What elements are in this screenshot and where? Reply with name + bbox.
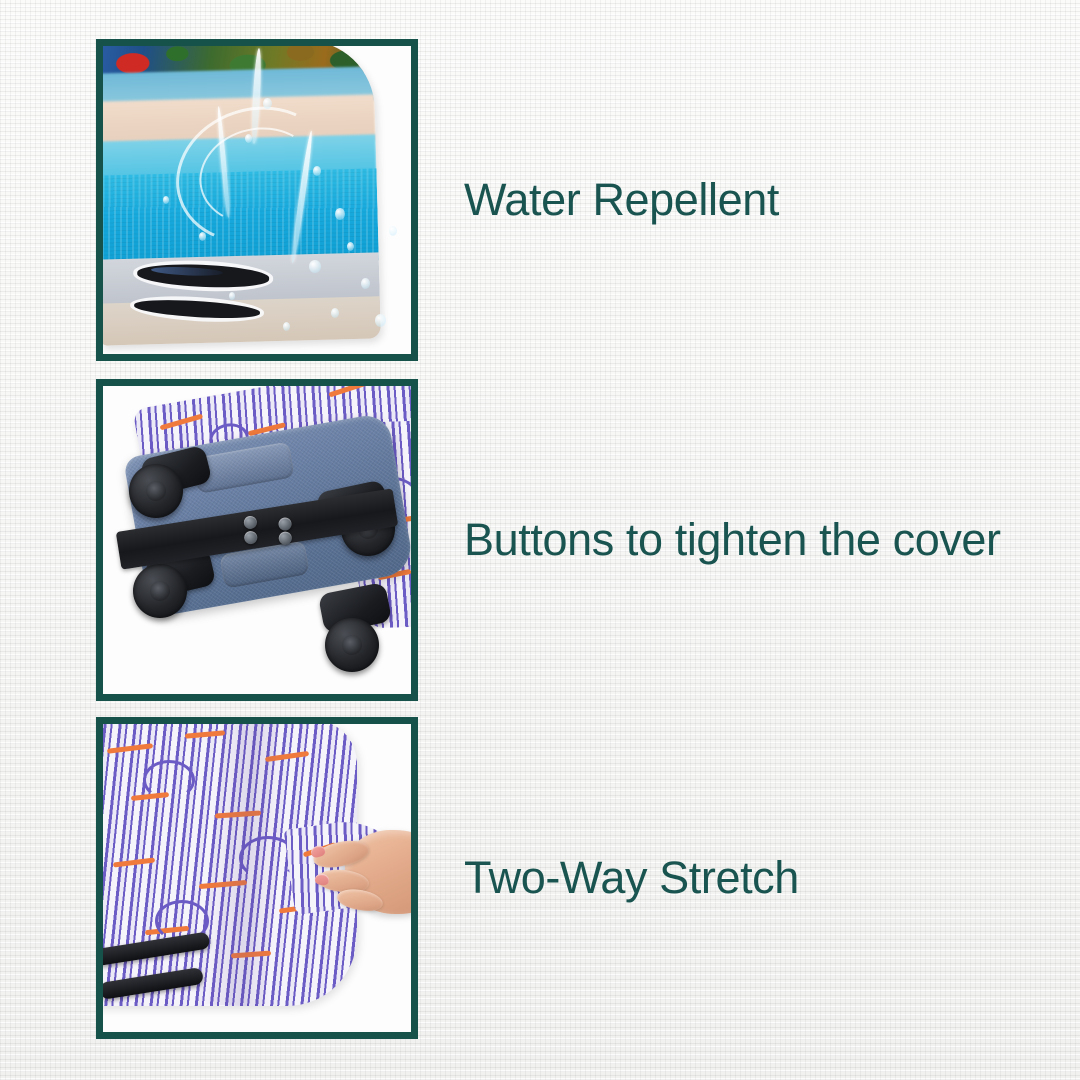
feature-row-water-repellent: Water Repellent: [0, 38, 1080, 362]
feature-caption-water-repellent: Water Repellent: [464, 176, 779, 223]
photo-hand-stretching-cover: [103, 724, 411, 1032]
snap-button: [243, 530, 258, 545]
feature-image-stretch: [96, 717, 418, 1039]
snap-button: [243, 515, 258, 530]
feature-row-buttons: Buttons to tighten the cover: [0, 378, 1080, 702]
spinner-wheel-bottom-right: [325, 618, 379, 672]
snap-button: [278, 517, 293, 532]
covered-suitcase-corner: [103, 46, 381, 346]
feature-caption-stretch: Two-Way Stretch: [464, 854, 799, 901]
photo-water-splash: [103, 46, 411, 354]
feature-image-water-repellent: [96, 39, 418, 361]
spinner-wheel-top-left: [129, 464, 183, 518]
feature-infographic: Water Repellent: [0, 0, 1080, 1080]
feature-caption-buttons: Buttons to tighten the cover: [464, 516, 1001, 563]
photo-suitcase-bottom: [103, 386, 411, 694]
water-droplet: [389, 226, 397, 236]
spinner-wheel-bottom-left: [133, 564, 187, 618]
wheel-bar-lower: [103, 967, 204, 1000]
feature-row-stretch: Two-Way Stretch: [0, 716, 1080, 1040]
hand-pulling-cover: [311, 820, 411, 932]
feature-image-buttons: [96, 379, 418, 701]
